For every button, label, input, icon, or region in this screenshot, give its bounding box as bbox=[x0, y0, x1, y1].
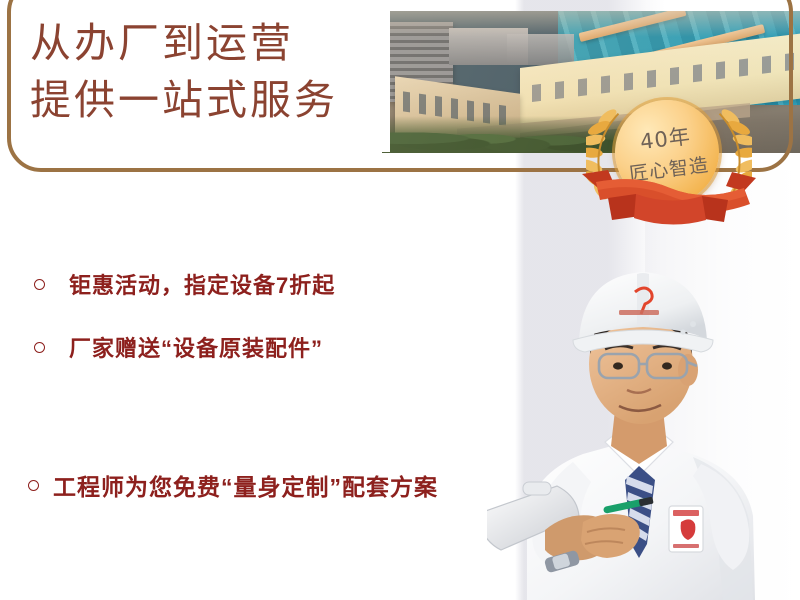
engineer-illustration bbox=[487, 214, 800, 600]
list-item: 钜惠活动，指定设备7折起 bbox=[34, 268, 335, 300]
list-item-text: 钜惠活动，指定设备7折起 bbox=[69, 268, 335, 300]
seal-years-label: 40年 bbox=[638, 120, 692, 156]
bullet-circle-icon bbox=[34, 342, 45, 353]
engineer-figure bbox=[487, 214, 800, 600]
list-item-text: 厂家赠送“设备原装配件” bbox=[69, 331, 323, 363]
list-item-text: 工程师为您免费“量身定制”配套方案 bbox=[53, 468, 438, 502]
bullet-circle-icon bbox=[28, 480, 39, 491]
headline-line-2: 提供一站式服务 bbox=[30, 75, 380, 125]
list-item: 工程师为您免费“量身定制”配套方案 bbox=[28, 468, 438, 502]
page-title: 从办厂到运营 提供一站式服务 bbox=[30, 18, 380, 125]
bullet-circle-icon bbox=[34, 279, 45, 290]
headline-line-1: 从办厂到运营 bbox=[30, 18, 380, 68]
list-item: 厂家赠送“设备原装配件” bbox=[34, 331, 323, 363]
engineer-id-badge bbox=[669, 506, 703, 552]
banner-canvas: 从办厂到运营 提供一站式服务 bbox=[0, 0, 800, 600]
